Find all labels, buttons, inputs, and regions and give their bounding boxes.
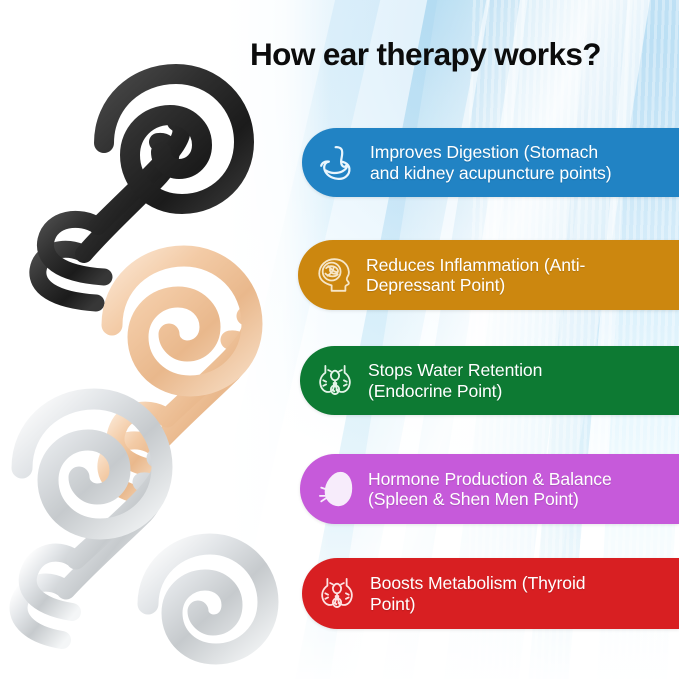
benefit-line-2: and kidney acupuncture points) [370,163,612,183]
benefit-line-2: (Endocrine Point) [368,381,502,401]
benefit-item-improves-digestion[interactable]: Improves Digestion (Stomach and kidney a… [302,128,679,197]
benefit-label: Hormone Production & Balance (Spleen & S… [368,469,620,510]
brain-head-icon [310,252,356,298]
benefits-list: Improves Digestion (Stomach and kidney a… [0,0,679,679]
benefit-label: Stops Water Retention (Endocrine Point) [368,360,550,401]
benefit-line-2: Depressant Point) [366,275,505,295]
benefit-line-2: Point) [370,594,415,614]
benefit-item-stops-water-retention[interactable]: Stops Water Retention (Endocrine Point) [300,346,679,415]
page-title: How ear therapy works? [0,36,671,73]
benefit-line-1: Boosts Metabolism (Thyroid [370,573,585,593]
benefit-item-boosts-metabolism[interactable]: Boosts Metabolism (Thyroid Point) [302,558,679,629]
benefit-line-1: Reduces Inflammation (Anti- [366,255,585,275]
benefit-line-1: Stops Water Retention [368,360,542,380]
benefit-item-hormone-production[interactable]: Hormone Production & Balance (Spleen & S… [300,454,679,524]
benefit-label: Reduces Inflammation (Anti- Depressant P… [366,255,593,296]
benefit-line-2: (Spleen & Shen Men Point) [368,489,579,509]
benefit-label: Improves Digestion (Stomach and kidney a… [370,142,620,183]
thyroid-icon [314,571,360,617]
infographic-canvas: How ear therapy works? Improves Digestio… [0,0,679,679]
benefit-item-reduces-inflammation[interactable]: Reduces Inflammation (Anti- Depressant P… [298,240,679,310]
benefit-line-1: Improves Digestion (Stomach [370,142,598,162]
stomach-icon [314,140,360,186]
thyroid-icon [312,358,358,404]
spleen-icon [312,466,358,512]
benefit-line-1: Hormone Production & Balance [368,469,612,489]
benefit-label: Boosts Metabolism (Thyroid Point) [370,573,593,614]
